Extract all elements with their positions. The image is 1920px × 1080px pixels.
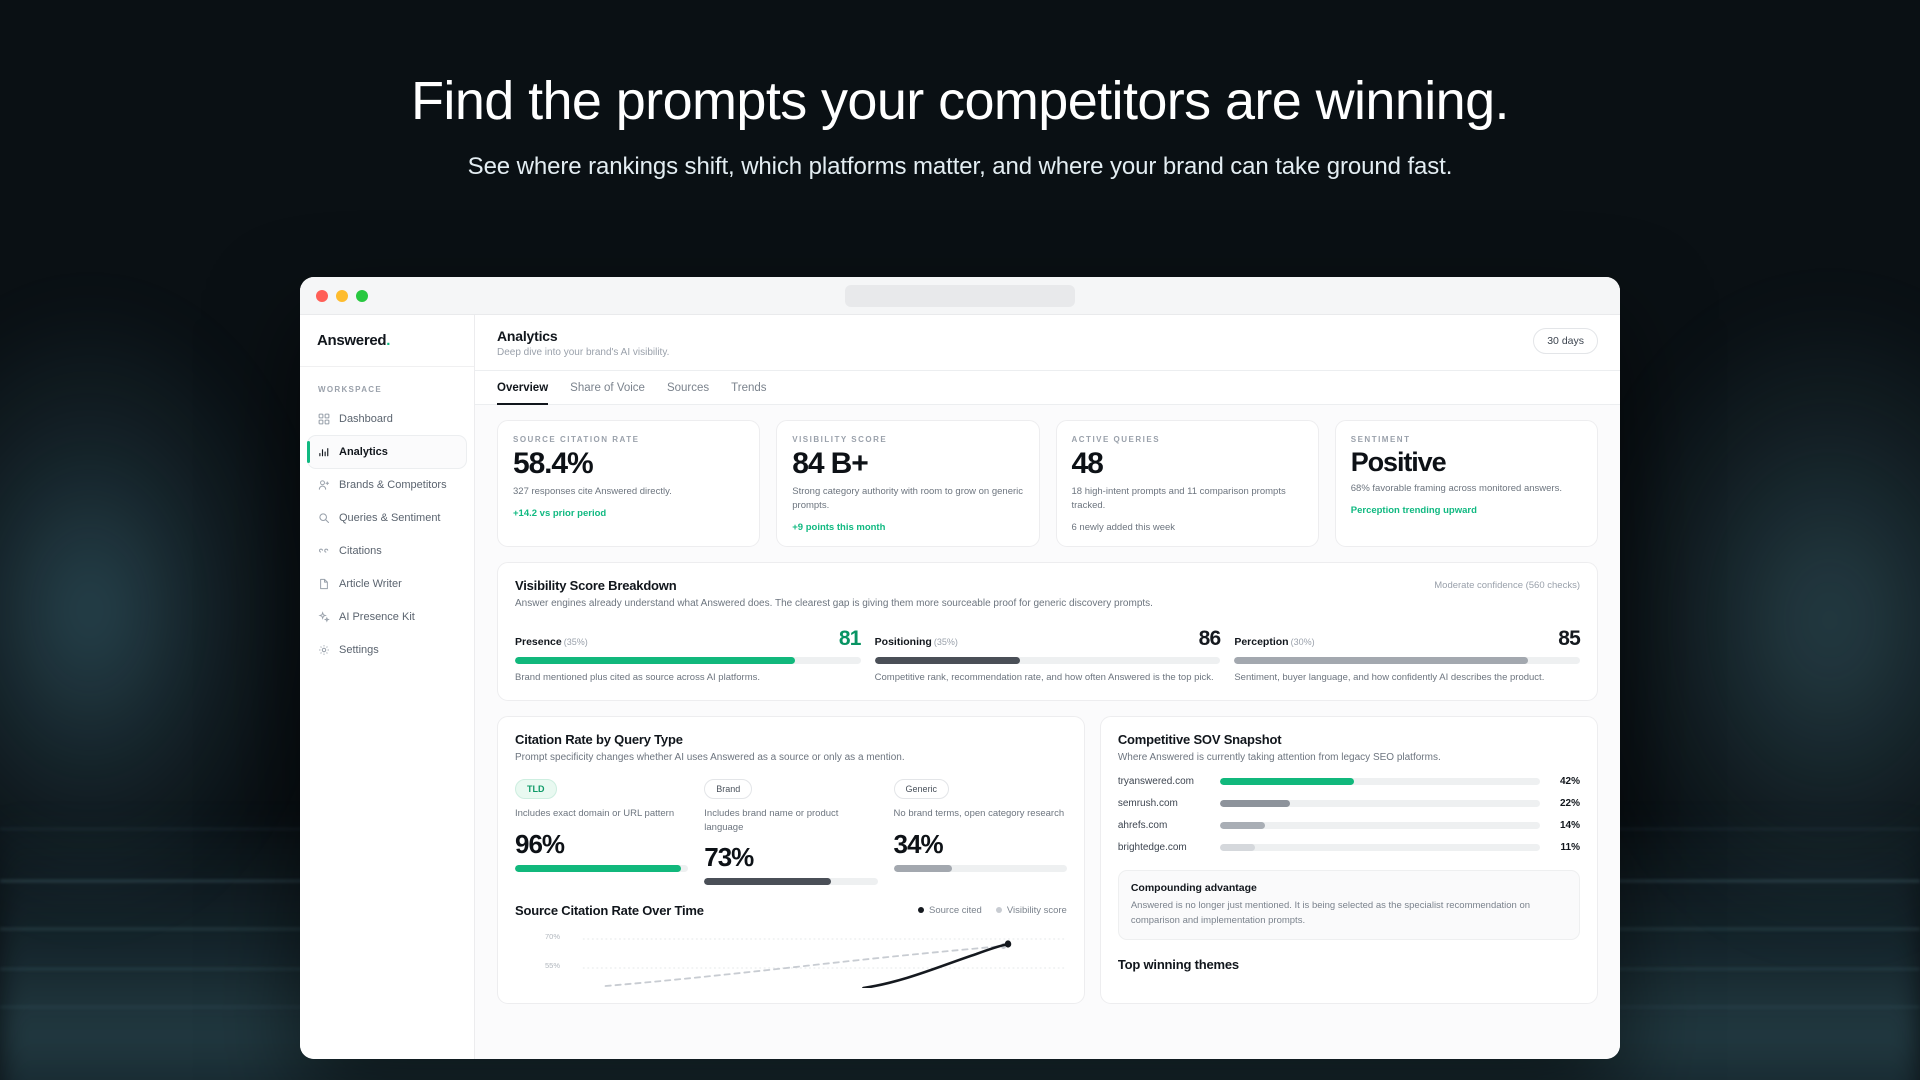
bar-chart-icon bbox=[317, 446, 330, 459]
kpi-delta: +9 points this month bbox=[792, 522, 1023, 533]
window-titlebar bbox=[300, 277, 1620, 315]
metric-progress-track bbox=[875, 657, 1221, 664]
query-type-value: 73% bbox=[704, 844, 877, 870]
kpi-label: ACTIVE QUERIES bbox=[1072, 435, 1303, 444]
metric-score: 81 bbox=[839, 628, 861, 649]
sidebar-item-article-writer[interactable]: Article Writer bbox=[308, 568, 466, 600]
kpi-description: 18 high-intent prompts and 11 comparison… bbox=[1072, 485, 1303, 513]
sidebar-item-citations[interactable]: Citations bbox=[308, 535, 466, 567]
breakdown-metric-perception: Perception(30%) 85 Sentiment, buyer lang… bbox=[1234, 628, 1580, 685]
query-type-track bbox=[515, 865, 688, 872]
sidebar-item-label: Analytics bbox=[339, 446, 388, 458]
app-logo[interactable]: Answered. bbox=[300, 315, 474, 367]
sov-domain: ahrefs.com bbox=[1118, 820, 1210, 831]
metric-name: Perception bbox=[1234, 636, 1288, 648]
query-type-fill bbox=[894, 865, 953, 872]
sov-list: tryanswered.com 42% semrush.com 22% ahre… bbox=[1118, 776, 1580, 853]
sov-percent: 14% bbox=[1550, 820, 1580, 831]
query-type-description: Includes brand name or product language bbox=[704, 807, 877, 834]
minimize-icon[interactable] bbox=[336, 290, 348, 302]
y-axis-tick: 70% bbox=[545, 932, 560, 941]
gear-icon bbox=[317, 644, 330, 657]
kpi-value: 84 B+ bbox=[792, 449, 1023, 479]
close-icon[interactable] bbox=[316, 290, 328, 302]
breakdown-metrics: Presence(35%) 81 Brand mentioned plus ci… bbox=[515, 628, 1580, 685]
main-content: Analytics Deep dive into your brand's AI… bbox=[475, 315, 1620, 1059]
metric-name: Positioning bbox=[875, 636, 932, 648]
kpi-delta: Perception trending upward bbox=[1351, 505, 1582, 516]
sov-domain: brightedge.com bbox=[1118, 842, 1210, 853]
sov-row: semrush.com 22% bbox=[1118, 798, 1580, 809]
sov-fill bbox=[1220, 778, 1354, 785]
sov-percent: 11% bbox=[1550, 842, 1580, 853]
trend-chart: 70% 55% bbox=[515, 928, 1067, 988]
sov-track bbox=[1220, 844, 1540, 851]
metric-weight: (30%) bbox=[1291, 637, 1315, 647]
sidebar-item-brands-competitors[interactable]: Brands & Competitors bbox=[308, 469, 466, 501]
query-type-generic: Generic No brand terms, open category re… bbox=[894, 779, 1067, 885]
sov-fill bbox=[1220, 844, 1255, 851]
legend-bullet-icon bbox=[918, 907, 924, 913]
sidebar-item-label: Dashboard bbox=[339, 413, 393, 425]
kpi-value: 58.4% bbox=[513, 449, 744, 479]
tab-sources[interactable]: Sources bbox=[667, 371, 709, 404]
metric-progress-fill bbox=[1234, 657, 1528, 664]
kpi-delta: +14.2 vs prior period bbox=[513, 508, 744, 519]
kpi-card-active-queries: ACTIVE QUERIES 48 18 high-intent prompts… bbox=[1056, 420, 1319, 547]
kpi-label: SENTIMENT bbox=[1351, 435, 1582, 444]
query-type-chip: Generic bbox=[894, 779, 950, 799]
tab-overview[interactable]: Overview bbox=[497, 371, 548, 404]
page-header: Analytics Deep dive into your brand's AI… bbox=[475, 315, 1620, 371]
sov-fill bbox=[1220, 800, 1290, 807]
metric-name-row: Presence(35%) bbox=[515, 632, 588, 650]
sidebar-item-label: Article Writer bbox=[339, 578, 402, 590]
logo-text: Answered bbox=[317, 332, 386, 349]
sov-row: tryanswered.com 42% bbox=[1118, 776, 1580, 787]
sidebar-item-analytics[interactable]: Analytics bbox=[308, 436, 466, 468]
kpi-description: Strong category authority with room to g… bbox=[792, 485, 1023, 513]
metric-description: Sentiment, buyer language, and how confi… bbox=[1234, 671, 1580, 685]
tab-share-of-voice[interactable]: Share of Voice bbox=[570, 371, 645, 404]
query-type-brand: Brand Includes brand name or product lan… bbox=[704, 779, 877, 885]
metric-progress-track bbox=[1234, 657, 1580, 664]
legend-item-source-cited: Source cited bbox=[918, 905, 982, 916]
visibility-breakdown-card: Visibility Score Breakdown Answer engine… bbox=[497, 562, 1598, 701]
competitive-sov-card: Competitive SOV Snapshot Where Answered … bbox=[1100, 716, 1598, 1004]
page-subtitle: Deep dive into your brand's AI visibilit… bbox=[497, 347, 669, 358]
sidebar-item-label: Queries & Sentiment bbox=[339, 512, 441, 524]
sov-domain: tryanswered.com bbox=[1118, 776, 1210, 787]
card-title: Citation Rate by Query Type bbox=[515, 732, 1067, 747]
kpi-card-source-citation-rate: SOURCE CITATION RATE 58.4% 327 responses… bbox=[497, 420, 760, 547]
hero-title: Find the prompts your competitors are wi… bbox=[0, 70, 1920, 133]
legend-label: Visibility score bbox=[1007, 905, 1067, 916]
metric-name-row: Perception(30%) bbox=[1234, 632, 1314, 650]
metric-name-row: Positioning(35%) bbox=[875, 632, 958, 650]
breakdown-metric-positioning: Positioning(35%) 86 Competitive rank, re… bbox=[875, 628, 1221, 685]
kpi-description: 68% favorable framing across monitored a… bbox=[1351, 482, 1582, 496]
metric-progress-track bbox=[515, 657, 861, 664]
app-body: Answered. WORKSPACE Dashboard Analytics … bbox=[300, 315, 1620, 1059]
card-subtitle: Prompt specificity changes whether AI us… bbox=[515, 751, 1067, 766]
legend-item-visibility-score: Visibility score bbox=[996, 905, 1067, 916]
query-type-chip: Brand bbox=[704, 779, 752, 799]
sov-fill bbox=[1220, 822, 1265, 829]
kpi-card-sentiment: SENTIMENT Positive 68% favorable framing… bbox=[1335, 420, 1598, 547]
series-point bbox=[1005, 940, 1012, 947]
query-type-description: Includes exact domain or URL pattern bbox=[515, 807, 688, 820]
sov-track bbox=[1220, 822, 1540, 829]
card-title: Visibility Score Breakdown bbox=[515, 578, 1153, 593]
trend-chart-svg bbox=[515, 928, 1067, 988]
trend-chart-header: Source Citation Rate Over Time Source ci… bbox=[515, 885, 1067, 918]
query-type-description: No brand terms, open category research bbox=[894, 807, 1067, 820]
tab-trends[interactable]: Trends bbox=[731, 371, 766, 404]
y-axis-tick: 55% bbox=[545, 961, 560, 970]
metric-score: 86 bbox=[1199, 628, 1221, 649]
kpi-value: Positive bbox=[1351, 449, 1582, 476]
sidebar-item-label: Brands & Competitors bbox=[339, 479, 447, 491]
sov-domain: semrush.com bbox=[1118, 798, 1210, 809]
confidence-badge: Moderate confidence (560 checks) bbox=[1434, 578, 1580, 591]
hero-section: Find the prompts your competitors are wi… bbox=[0, 0, 1920, 181]
lower-section: Citation Rate by Query Type Prompt speci… bbox=[497, 716, 1598, 1004]
citation-rate-card: Citation Rate by Query Type Prompt speci… bbox=[497, 716, 1085, 1004]
card-subtitle: Where Answered is currently taking atten… bbox=[1118, 751, 1580, 766]
search-icon bbox=[317, 512, 330, 525]
sov-row: ahrefs.com 14% bbox=[1118, 820, 1580, 831]
top-winning-themes-title: Top winning themes bbox=[1118, 957, 1580, 972]
query-type-fill bbox=[515, 865, 681, 872]
sidebar-item-settings[interactable]: Settings bbox=[308, 634, 466, 666]
sidebar: Answered. WORKSPACE Dashboard Analytics … bbox=[300, 315, 475, 1059]
hero-subtitle: See where rankings shift, which platform… bbox=[0, 153, 1920, 181]
sidebar-item-label: AI Presence Kit bbox=[339, 611, 415, 623]
kpi-value: 48 bbox=[1072, 449, 1303, 479]
metric-weight: (35%) bbox=[564, 637, 588, 647]
legend-bullet-icon bbox=[996, 907, 1002, 913]
metric-description: Competitive rank, recommendation rate, a… bbox=[875, 671, 1221, 685]
callout-title: Compounding advantage bbox=[1131, 882, 1567, 894]
document-icon bbox=[317, 578, 330, 591]
sidebar-item-label: Citations bbox=[339, 545, 382, 557]
page-title: Analytics bbox=[497, 328, 669, 344]
sov-track bbox=[1220, 800, 1540, 807]
metric-progress-fill bbox=[515, 657, 795, 664]
sidebar-item-dashboard[interactable]: Dashboard bbox=[308, 403, 466, 435]
sov-row: brightedge.com 11% bbox=[1118, 842, 1580, 853]
breakdown-metric-presence: Presence(35%) 81 Brand mentioned plus ci… bbox=[515, 628, 861, 685]
quote-icon bbox=[317, 545, 330, 558]
card-header: Visibility Score Breakdown Answer engine… bbox=[515, 578, 1580, 612]
query-type-value: 34% bbox=[894, 831, 1067, 857]
kpi-card-visibility-score: VISIBILITY SCORE 84 B+ Strong category a… bbox=[776, 420, 1039, 547]
query-type-value: 96% bbox=[515, 831, 688, 857]
traffic-lights bbox=[316, 290, 368, 302]
sov-track bbox=[1220, 778, 1540, 785]
metric-score: 85 bbox=[1558, 628, 1580, 649]
content-scroll-area[interactable]: SOURCE CITATION RATE 58.4% 327 responses… bbox=[475, 405, 1620, 1059]
query-type-tld: TLD Includes exact domain or URL pattern… bbox=[515, 779, 688, 885]
maximize-icon[interactable] bbox=[356, 290, 368, 302]
query-type-chip: TLD bbox=[515, 779, 557, 799]
browser-window: Answered. WORKSPACE Dashboard Analytics … bbox=[300, 277, 1620, 1059]
callout-body: Answered is no longer just mentioned. It… bbox=[1131, 899, 1567, 928]
sov-percent: 22% bbox=[1550, 798, 1580, 809]
insight-callout: Compounding advantage Answered is no lon… bbox=[1118, 870, 1580, 940]
address-bar[interactable] bbox=[845, 285, 1075, 307]
kpi-delta: 6 newly added this week bbox=[1072, 522, 1303, 533]
kpi-description: 327 responses cite Answered directly. bbox=[513, 485, 744, 499]
query-type-track bbox=[894, 865, 1067, 872]
metric-weight: (35%) bbox=[934, 637, 958, 647]
sidebar-item-queries-sentiment[interactable]: Queries & Sentiment bbox=[308, 502, 466, 534]
chart-title: Source Citation Rate Over Time bbox=[515, 903, 704, 918]
date-range-button[interactable]: 30 days bbox=[1533, 328, 1598, 354]
kpi-label: SOURCE CITATION RATE bbox=[513, 435, 744, 444]
metric-description: Brand mentioned plus cited as source acr… bbox=[515, 671, 861, 685]
card-subtitle: Answer engines already understand what A… bbox=[515, 597, 1153, 612]
sparkles-icon bbox=[317, 611, 330, 624]
kpi-row: SOURCE CITATION RATE 58.4% 327 responses… bbox=[497, 420, 1598, 547]
kpi-label: VISIBILITY SCORE bbox=[792, 435, 1023, 444]
tab-bar: Overview Share of Voice Sources Trends bbox=[475, 371, 1620, 405]
query-type-fill bbox=[704, 878, 830, 885]
grid-icon bbox=[317, 413, 330, 426]
series-source-cited bbox=[863, 944, 1008, 988]
page-header-text: Analytics Deep dive into your brand's AI… bbox=[497, 328, 669, 358]
sidebar-item-label: Settings bbox=[339, 644, 379, 656]
chart-legend: Source cited Visibility score bbox=[918, 905, 1067, 916]
sidebar-section-label: WORKSPACE bbox=[300, 367, 474, 402]
legend-label: Source cited bbox=[929, 905, 982, 916]
query-type-grid: TLD Includes exact domain or URL pattern… bbox=[515, 779, 1067, 885]
card-title: Competitive SOV Snapshot bbox=[1118, 732, 1580, 747]
metric-name: Presence bbox=[515, 636, 562, 648]
user-plus-icon bbox=[317, 479, 330, 492]
logo-dot: . bbox=[386, 332, 390, 349]
metric-progress-fill bbox=[875, 657, 1020, 664]
sidebar-item-ai-presence-kit[interactable]: AI Presence Kit bbox=[308, 601, 466, 633]
query-type-track bbox=[704, 878, 877, 885]
sov-percent: 42% bbox=[1550, 776, 1580, 787]
